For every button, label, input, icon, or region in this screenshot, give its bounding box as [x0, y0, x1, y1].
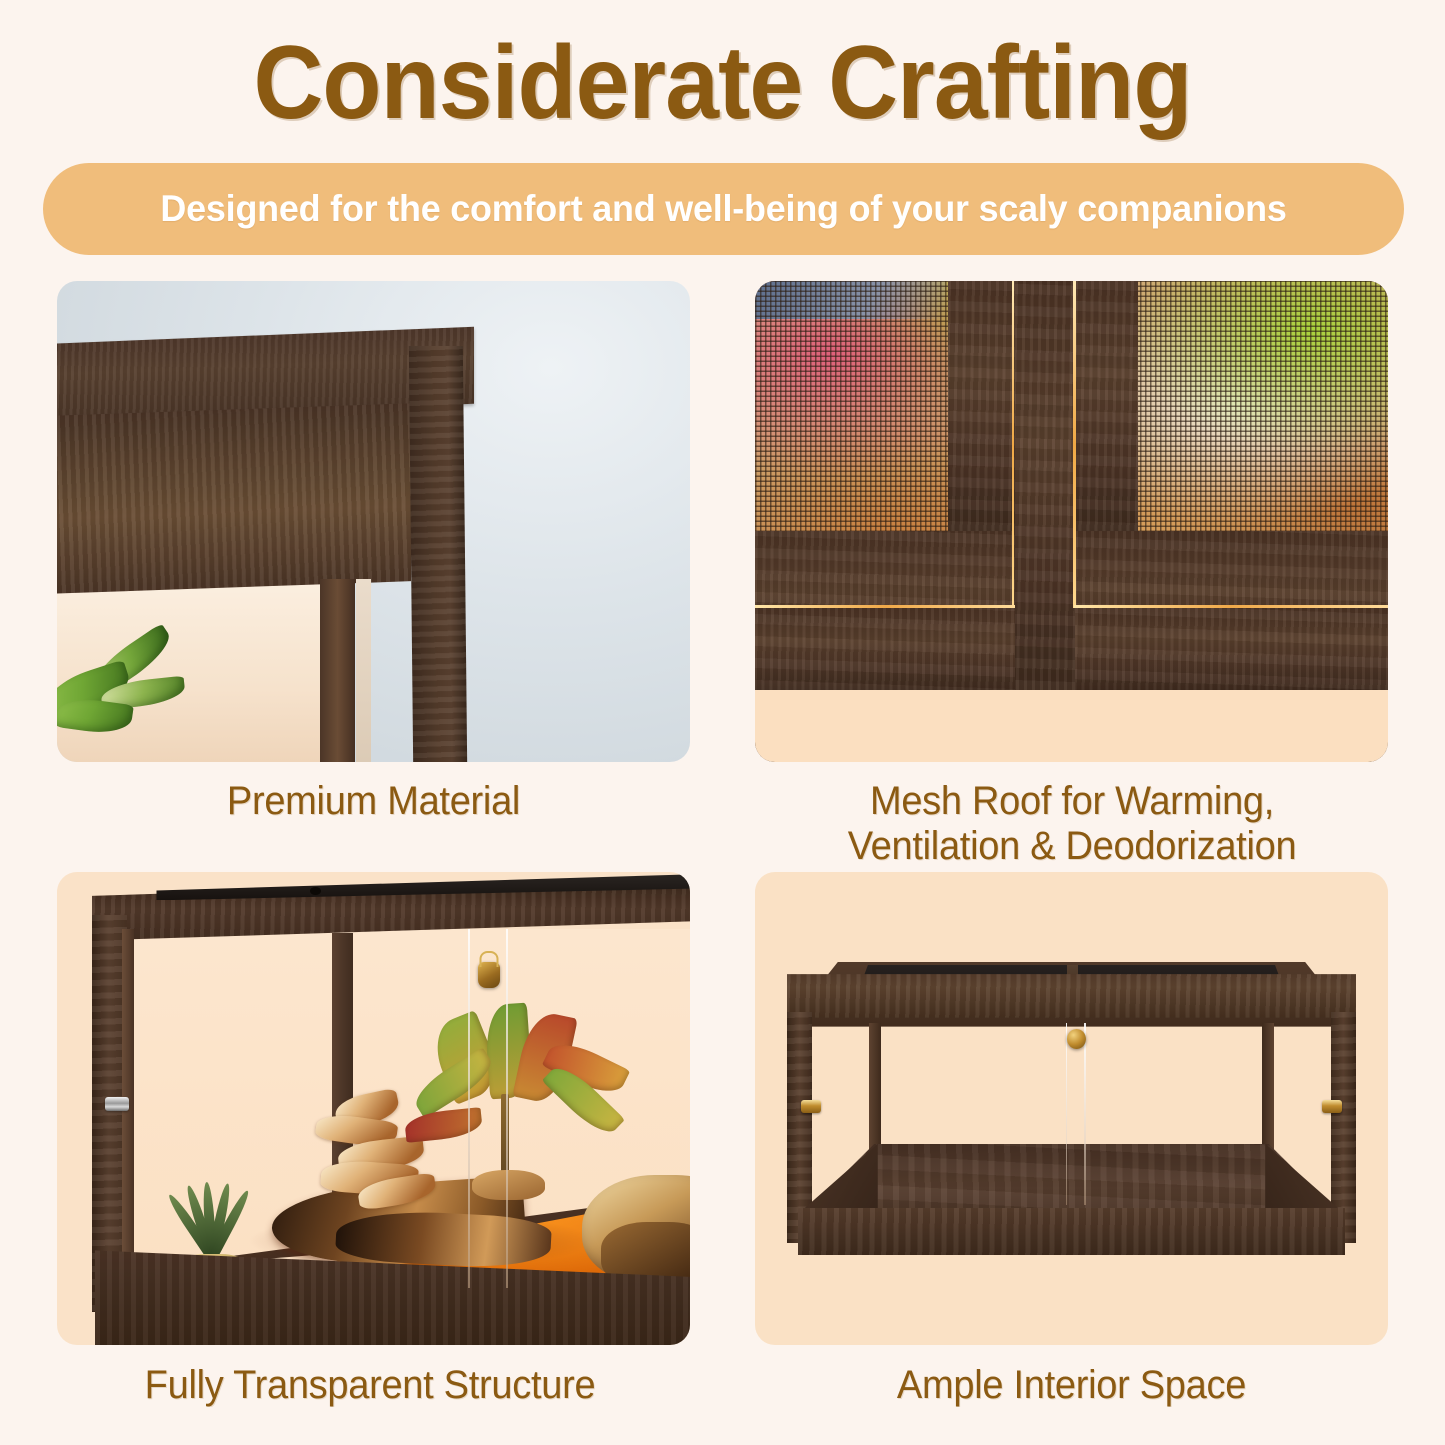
wood-left-post-inner [122, 929, 135, 1307]
wood-front-rail [57, 403, 411, 594]
feature-card-mesh-roof [755, 281, 1388, 762]
gold-trim-left [1012, 281, 1015, 608]
caption-mesh-roof: Mesh Roof for Warming, Ventilation & Deo… [764, 779, 1380, 869]
ample-interior-space-photo [755, 872, 1388, 1345]
glass-door-seam-left [1066, 1023, 1068, 1205]
gold-trim-bottom-left [755, 605, 1015, 608]
door-hinge-icon [105, 1097, 129, 1111]
transparent-structure-photo [57, 872, 690, 1345]
door-hinge-icon-left [801, 1100, 821, 1113]
green-plant-icon [57, 637, 234, 762]
gold-trim-right [1073, 281, 1076, 608]
caption-mesh-roof-line1: Mesh Roof for Warming, [764, 779, 1380, 824]
wood-front-base-rail [798, 1208, 1345, 1255]
glass-door-seam-right [1084, 1023, 1086, 1205]
glass-door-seam-left [468, 929, 470, 1288]
door-hinge-icon-right [1322, 1100, 1342, 1113]
caption-premium-material: Premium Material [73, 779, 674, 824]
mesh-roof-frame [755, 281, 1388, 762]
enclosure-body [787, 962, 1357, 1255]
wood-vertical-rail-center [1015, 281, 1075, 690]
wood-inner-post [320, 579, 355, 762]
frame-gap [356, 579, 371, 762]
caption-ample-interior-space: Ample Interior Space [771, 1363, 1372, 1408]
wood-corner-post [409, 346, 467, 762]
wood-vertical-rail-right [1075, 281, 1138, 531]
glass-door-seam-right [506, 929, 508, 1288]
padlock-icon [478, 962, 500, 988]
premium-material-photo [57, 281, 690, 762]
feature-grid: Premium Material Mesh Roof for [0, 0, 1445, 1445]
caption-mesh-roof-line2: Ventilation & Deodorization [764, 824, 1380, 869]
feature-card-transparent-structure [57, 872, 690, 1345]
caption-transparent-structure: Fully Transparent Structure [57, 1363, 684, 1408]
wood-vertical-rail-left [948, 281, 1018, 531]
feature-card-ample-interior-space [755, 872, 1388, 1345]
plant-base [472, 1170, 544, 1200]
gold-trim-bottom-right [1074, 605, 1388, 608]
feature-card-premium-material [57, 281, 690, 762]
photo-peach-base [755, 690, 1388, 762]
mesh-roof-photo [755, 281, 1388, 762]
